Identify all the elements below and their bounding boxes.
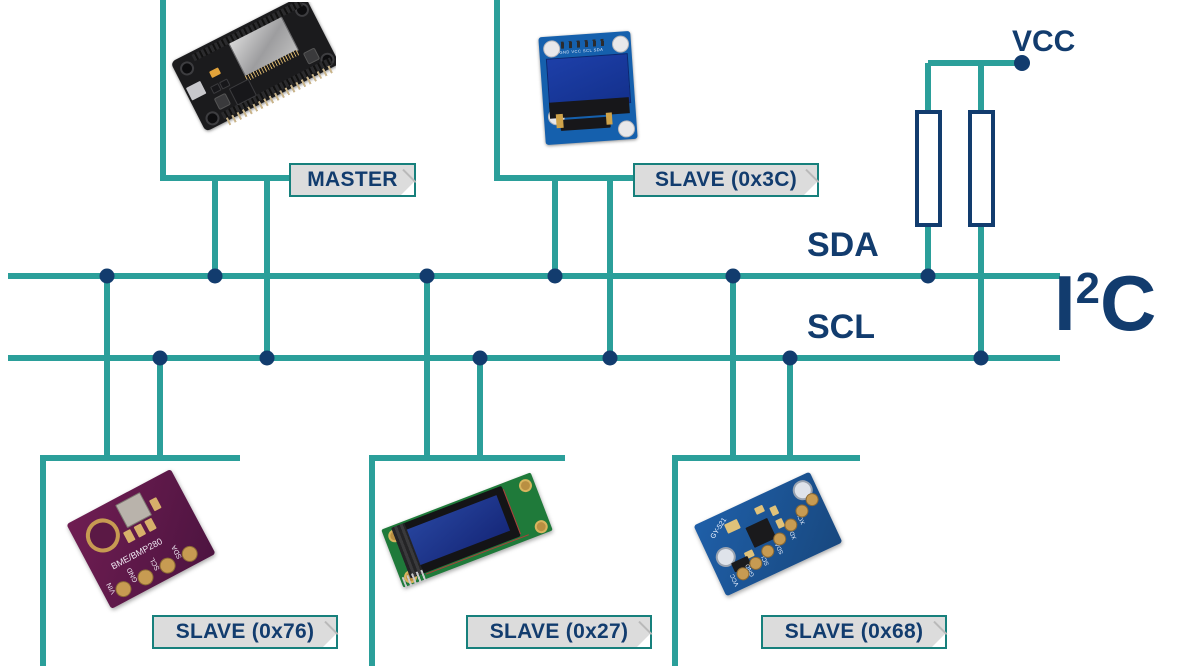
label-master[interactable]: MASTER — [289, 163, 416, 197]
junction-dot — [974, 351, 989, 366]
junction-dot — [153, 351, 168, 366]
i2c-logo-c: C — [1100, 259, 1156, 347]
junction-dot — [100, 269, 115, 284]
label-slave-lcd1602-text: SLAVE (0x27) — [490, 620, 629, 644]
junction-dot — [726, 269, 741, 284]
pullup-resistor-sda — [917, 112, 940, 225]
junction-dot — [208, 269, 223, 284]
fold-corner-icon — [637, 634, 650, 647]
fold-corner-icon — [401, 182, 414, 195]
junction-dot — [921, 269, 936, 284]
i2c-logo-superscript: 2 — [1076, 264, 1100, 313]
junction-dot — [260, 351, 275, 366]
label-slave-oled[interactable]: SLAVE (0x3C) — [633, 163, 819, 197]
label-master-text: MASTER — [307, 168, 397, 192]
scl-bus-label: SCL — [807, 308, 875, 347]
device-image-oled: GND VCC SCL SDA — [500, 2, 675, 176]
label-slave-mpu6050[interactable]: SLAVE (0x68) — [761, 615, 947, 649]
i2c-diagram: GND VCC SCL SDA BME/BMP280 VIN GND SCL S… — [0, 0, 1181, 666]
label-slave-lcd1602[interactable]: SLAVE (0x27) — [466, 615, 652, 649]
fold-edge — [324, 621, 338, 635]
fold-corner-icon — [932, 634, 945, 647]
fold-edge — [638, 621, 652, 635]
junction-dot — [473, 351, 488, 366]
i2c-logo-i: I — [1054, 259, 1076, 347]
label-slave-bme280-text: SLAVE (0x76) — [176, 620, 315, 644]
junction-dot — [603, 351, 618, 366]
fold-edge — [933, 621, 947, 635]
vcc-label: VCC — [1012, 25, 1075, 59]
fold-corner-icon — [804, 182, 817, 195]
device-image-master — [166, 2, 336, 176]
junction-dot — [548, 269, 563, 284]
sda-bus-label: SDA — [807, 226, 879, 265]
junction-dot — [420, 269, 435, 284]
fold-edge — [402, 169, 416, 183]
label-slave-bme280[interactable]: SLAVE (0x76) — [152, 615, 338, 649]
pullup-resistor-scl — [970, 112, 993, 225]
fold-corner-icon — [323, 634, 336, 647]
label-slave-mpu6050-text: SLAVE (0x68) — [785, 620, 924, 644]
i2c-logo: I2C — [1054, 264, 1156, 342]
label-slave-oled-text: SLAVE (0x3C) — [655, 168, 797, 192]
junction-dot — [783, 351, 798, 366]
fold-edge — [805, 169, 819, 183]
